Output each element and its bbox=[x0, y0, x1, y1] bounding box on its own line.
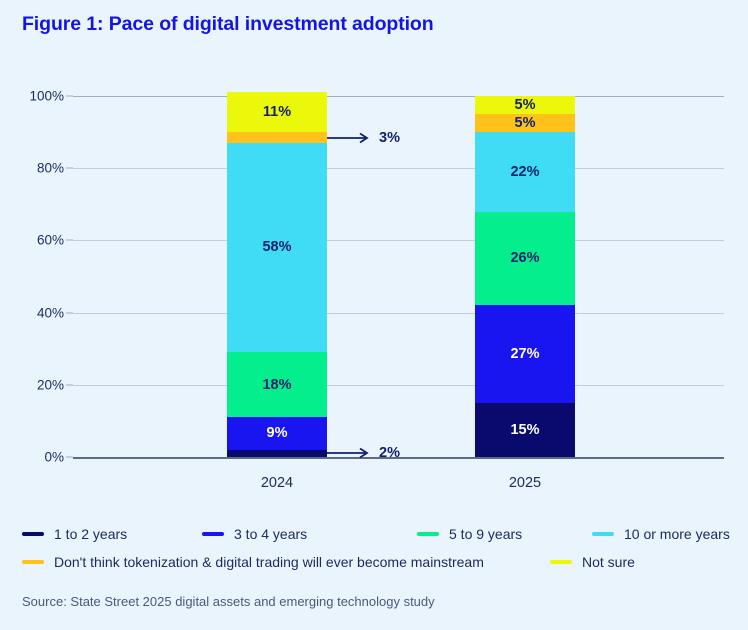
legend-row-primary: 1 to 2 years3 to 4 years5 to 9 years10 o… bbox=[22, 520, 732, 548]
legend-item[interactable]: 10 or more years bbox=[592, 520, 730, 548]
gridline bbox=[73, 168, 724, 169]
bar-segment-value-label: 5% bbox=[515, 116, 536, 131]
bar-segment[interactable] bbox=[227, 450, 327, 457]
bar-segment-value-label: 11% bbox=[263, 105, 291, 120]
callout-annotation: 3% bbox=[327, 131, 400, 145]
legend-label: 3 to 4 years bbox=[234, 526, 307, 542]
bar-segment[interactable]: 5% bbox=[475, 96, 575, 114]
bar-segment[interactable]: 5% bbox=[475, 114, 575, 132]
y-axis-tick-label: 20% bbox=[37, 377, 64, 392]
page-title: Figure 1: Pace of digital investment ado… bbox=[22, 13, 434, 36]
bar-segment[interactable] bbox=[227, 132, 327, 143]
legend-label: 5 to 9 years bbox=[449, 526, 522, 542]
bar-segment-value-label: 5% bbox=[515, 98, 536, 113]
bar-segment-value-label: 58% bbox=[262, 240, 291, 255]
legend-color-swatch bbox=[550, 560, 572, 564]
gridline bbox=[73, 313, 724, 314]
arrow-icon bbox=[327, 132, 373, 144]
arrow-icon bbox=[327, 447, 373, 459]
callout-value-label: 3% bbox=[379, 130, 400, 146]
source-note: Source: State Street 2025 digital assets… bbox=[22, 594, 435, 609]
callout-annotation: 2% bbox=[327, 446, 400, 460]
legend-item[interactable]: 1 to 2 years bbox=[22, 520, 127, 548]
y-axis-tick-mark bbox=[66, 240, 73, 241]
legend-color-swatch bbox=[202, 532, 224, 536]
bar-segment-value-label: 26% bbox=[510, 251, 539, 266]
legend-color-swatch bbox=[22, 532, 44, 536]
bar-segment[interactable]: 22% bbox=[475, 132, 575, 211]
bar-segment[interactable]: 26% bbox=[475, 212, 575, 306]
y-axis-tick-label: 60% bbox=[37, 233, 64, 248]
bar-segment[interactable]: 58% bbox=[227, 143, 327, 352]
callout-value-label: 2% bbox=[379, 445, 400, 461]
figure-container: Figure 1: Pace of digital investment ado… bbox=[0, 0, 748, 630]
legend-item[interactable]: Not sure bbox=[550, 548, 635, 576]
y-axis-tick-mark bbox=[66, 384, 73, 385]
bar-column[interactable]: 15%27%26%22%5%5%2025 bbox=[475, 96, 575, 457]
gridline bbox=[73, 385, 724, 386]
bar-segment-value-label: 9% bbox=[267, 426, 288, 441]
legend-item[interactable]: Don't think tokenization & digital tradi… bbox=[22, 548, 484, 576]
legend-label: 1 to 2 years bbox=[54, 526, 127, 542]
bar-segment[interactable]: 18% bbox=[227, 352, 327, 417]
bar-segment[interactable]: 27% bbox=[475, 305, 575, 402]
bar-segment[interactable]: 11% bbox=[227, 92, 327, 132]
gridline bbox=[73, 240, 724, 241]
y-axis-tick-mark bbox=[66, 168, 73, 169]
chart-legend: 1 to 2 years3 to 4 years5 to 9 years10 o… bbox=[22, 520, 732, 576]
bar-segment[interactable]: 9% bbox=[227, 417, 327, 449]
legend-color-swatch bbox=[417, 532, 439, 536]
y-axis-tick-mark bbox=[66, 457, 73, 458]
legend-color-swatch bbox=[22, 560, 44, 564]
legend-item[interactable]: 5 to 9 years bbox=[417, 520, 522, 548]
bar-column[interactable]: 9%18%58%11%2024 bbox=[227, 96, 327, 457]
plot-area: 0%20%40%60%80%100%9%18%58%11%202415%27%2… bbox=[73, 96, 724, 457]
bar-segment-value-label: 18% bbox=[262, 378, 291, 393]
gridline bbox=[73, 96, 724, 97]
bar-segment-value-label: 15% bbox=[510, 423, 539, 438]
legend-label: Not sure bbox=[582, 554, 635, 570]
y-axis-tick-label: 0% bbox=[44, 450, 64, 465]
bar-segment-value-label: 22% bbox=[510, 165, 539, 180]
y-axis-tick-label: 40% bbox=[37, 305, 64, 320]
y-axis-tick-mark bbox=[66, 96, 73, 97]
bar-segment[interactable]: 15% bbox=[475, 403, 575, 457]
legend-label: Don't think tokenization & digital tradi… bbox=[54, 554, 484, 570]
y-axis-tick-mark bbox=[66, 312, 73, 313]
y-axis-tick-label: 100% bbox=[29, 89, 64, 104]
x-axis-tick-label: 2024 bbox=[227, 475, 327, 491]
legend-label: 10 or more years bbox=[624, 526, 730, 542]
legend-item[interactable]: 3 to 4 years bbox=[202, 520, 307, 548]
y-axis-tick-label: 80% bbox=[37, 161, 64, 176]
legend-row-secondary: Don't think tokenization & digital tradi… bbox=[22, 548, 732, 576]
x-axis-tick-label: 2025 bbox=[475, 475, 575, 491]
bar-segment-value-label: 27% bbox=[510, 347, 539, 362]
legend-color-swatch bbox=[592, 532, 614, 536]
